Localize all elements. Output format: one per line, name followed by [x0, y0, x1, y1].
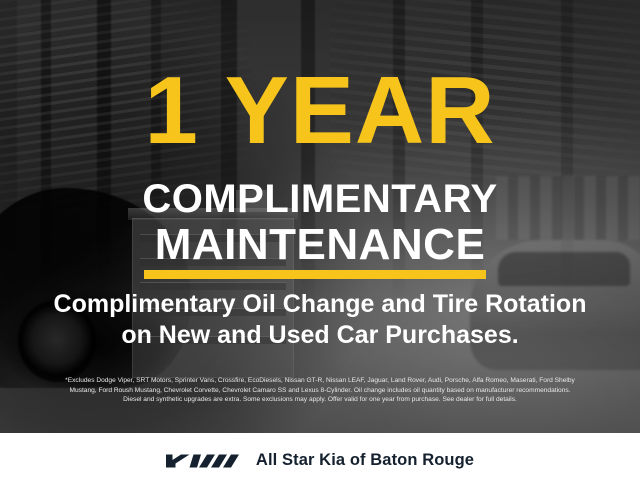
offer-tagline: Complimentary Oil Change and Tire Rotati…: [0, 289, 640, 351]
dealer-name: All Star Kia of Baton Rouge: [256, 451, 474, 470]
disclaimer-fine-print: *Excludes Dodge Viper, SRT Motors, Sprin…: [14, 376, 626, 405]
disclaimer-line-2: Mustang, Ford Roush Mustang, Chevrolet C…: [14, 386, 626, 396]
headline-maintenance: MAINTENANCE: [0, 222, 640, 268]
kia-logo: [166, 450, 240, 472]
tagline-line-1: Complimentary Oil Change and Tire Rotati…: [54, 290, 587, 318]
dealer-footer-bar: All Star Kia of Baton Rouge: [0, 433, 640, 488]
headline-complimentary: COMPLIMENTARY: [0, 178, 640, 220]
tagline-line-2: on New and Used Car Purchases.: [0, 320, 640, 351]
yellow-divider-rule: [144, 270, 486, 279]
disclaimer-line-3: Diesel and synthetic upgrades are extra.…: [14, 395, 626, 405]
headline-year: 1 YEAR: [0, 63, 640, 159]
ad-content: 1 YEAR COMPLIMENTARY MAINTENANCE Complim…: [0, 0, 640, 488]
promotional-ad-banner: 1 YEAR COMPLIMENTARY MAINTENANCE Complim…: [0, 0, 640, 488]
disclaimer-line-1: *Excludes Dodge Viper, SRT Motors, Sprin…: [14, 376, 626, 386]
